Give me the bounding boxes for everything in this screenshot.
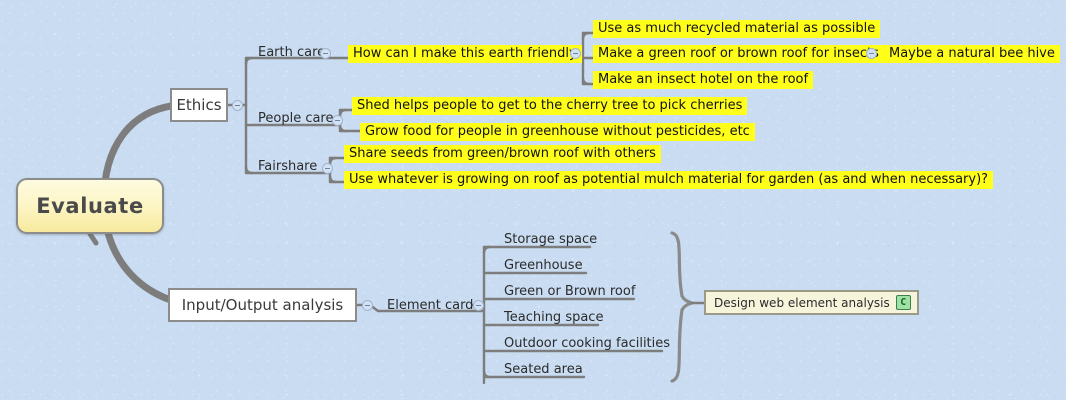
node-shed-helps-people-cherry-tree-label: Shed helps people to get to the cherry t… (357, 98, 742, 113)
node-card-storage-space[interactable]: Storage space (504, 232, 597, 247)
node-input-output-analysis-label: Input/Output analysis (182, 296, 344, 314)
node-card-greenhouse[interactable]: Greenhouse (504, 258, 583, 273)
node-make-a-green-roof-or-brown-roof[interactable]: Make a green roof or brown roof for inse… (593, 45, 884, 63)
node-design-web-element-analysis[interactable]: Design web element analysis C (704, 290, 919, 315)
node-card-greenhouse-label: Greenhouse (504, 258, 583, 273)
node-people-care-label: People care (258, 111, 334, 126)
node-make-an-insect-hotel[interactable]: Make an insect hotel on the roof (593, 71, 813, 89)
node-grow-food-for-people-greenhouse-label: Grow food for people in greenhouse witho… (365, 124, 750, 139)
node-design-web-element-analysis-label: Design web element analysis (714, 296, 890, 310)
node-card-green-or-brown-roof[interactable]: Green or Brown roof (504, 284, 635, 299)
node-card-teaching-space-label: Teaching space (504, 310, 603, 325)
collapse-toggle-input-output-icon[interactable] (362, 300, 373, 311)
node-earth-care[interactable]: Earth care (258, 45, 325, 60)
node-maybe-a-natural-bee-hive-label: Maybe a natural bee hive (889, 46, 1055, 61)
node-input-output-analysis[interactable]: Input/Output analysis (168, 288, 357, 322)
node-ethics-label: Ethics (176, 96, 221, 114)
node-card-seated-area[interactable]: Seated area (504, 362, 583, 377)
node-how-can-i-make-this-earth-friendly-label: How can I make this earth friendly (353, 46, 577, 61)
node-fairshare[interactable]: Fairshare (258, 159, 317, 174)
node-shed-helps-people-cherry-tree[interactable]: Shed helps people to get to the cherry t… (352, 97, 747, 115)
node-share-seeds-from-roof-label: Share seeds from green/brown roof with o… (349, 146, 656, 161)
node-make-an-insect-hotel-label: Make an insect hotel on the roof (598, 72, 808, 87)
calendar-c-badge-icon[interactable]: C (896, 295, 911, 310)
node-card-seated-area-label: Seated area (504, 362, 583, 377)
node-use-as-much-recycled-material[interactable]: Use as much recycled material as possibl… (593, 20, 880, 38)
collapse-toggle-earth-care-icon[interactable] (320, 48, 331, 59)
node-card-outdoor-cooking-facilities-label: Outdoor cooking facilities (504, 336, 670, 351)
node-element-cards-label: Element cards (387, 298, 480, 313)
collapse-toggle-people-care-icon[interactable] (332, 115, 343, 126)
node-grow-food-for-people-greenhouse[interactable]: Grow food for people in greenhouse witho… (360, 123, 755, 141)
node-share-seeds-from-roof[interactable]: Share seeds from green/brown roof with o… (344, 145, 661, 163)
root-node-evaluate[interactable]: Evaluate (16, 178, 164, 234)
collapse-toggle-ethics-icon[interactable] (232, 100, 243, 111)
collapse-toggle-fairshare-icon[interactable] (322, 163, 333, 174)
node-card-teaching-space[interactable]: Teaching space (504, 310, 603, 325)
node-people-care[interactable]: People care (258, 111, 334, 126)
node-maybe-a-natural-bee-hive[interactable]: Maybe a natural bee hive (884, 45, 1060, 63)
node-how-can-i-make-this-earth-friendly[interactable]: How can I make this earth friendly (348, 45, 582, 63)
node-fairshare-label: Fairshare (258, 159, 317, 174)
collapse-toggle-element-cards-icon[interactable] (473, 300, 484, 311)
node-make-a-green-roof-or-brown-roof-label: Make a green roof or brown roof for inse… (598, 46, 879, 61)
node-use-as-much-recycled-material-label: Use as much recycled material as possibl… (598, 21, 875, 36)
node-element-cards[interactable]: Element cards (387, 298, 480, 313)
collapse-toggle-green-roof-icon[interactable] (866, 48, 877, 59)
node-card-outdoor-cooking-facilities[interactable]: Outdoor cooking facilities (504, 336, 670, 351)
collapse-toggle-earth-friendly-icon[interactable] (570, 48, 581, 59)
node-earth-care-label: Earth care (258, 45, 325, 60)
root-node-label: Evaluate (36, 194, 144, 218)
node-card-green-or-brown-roof-label: Green or Brown roof (504, 284, 635, 299)
node-card-storage-space-label: Storage space (504, 232, 597, 247)
node-use-whatever-is-growing-on-roof-label: Use whatever is growing on roof as poten… (349, 172, 988, 187)
node-use-whatever-is-growing-on-roof[interactable]: Use whatever is growing on roof as poten… (344, 171, 993, 189)
node-ethics[interactable]: Ethics (170, 88, 228, 122)
